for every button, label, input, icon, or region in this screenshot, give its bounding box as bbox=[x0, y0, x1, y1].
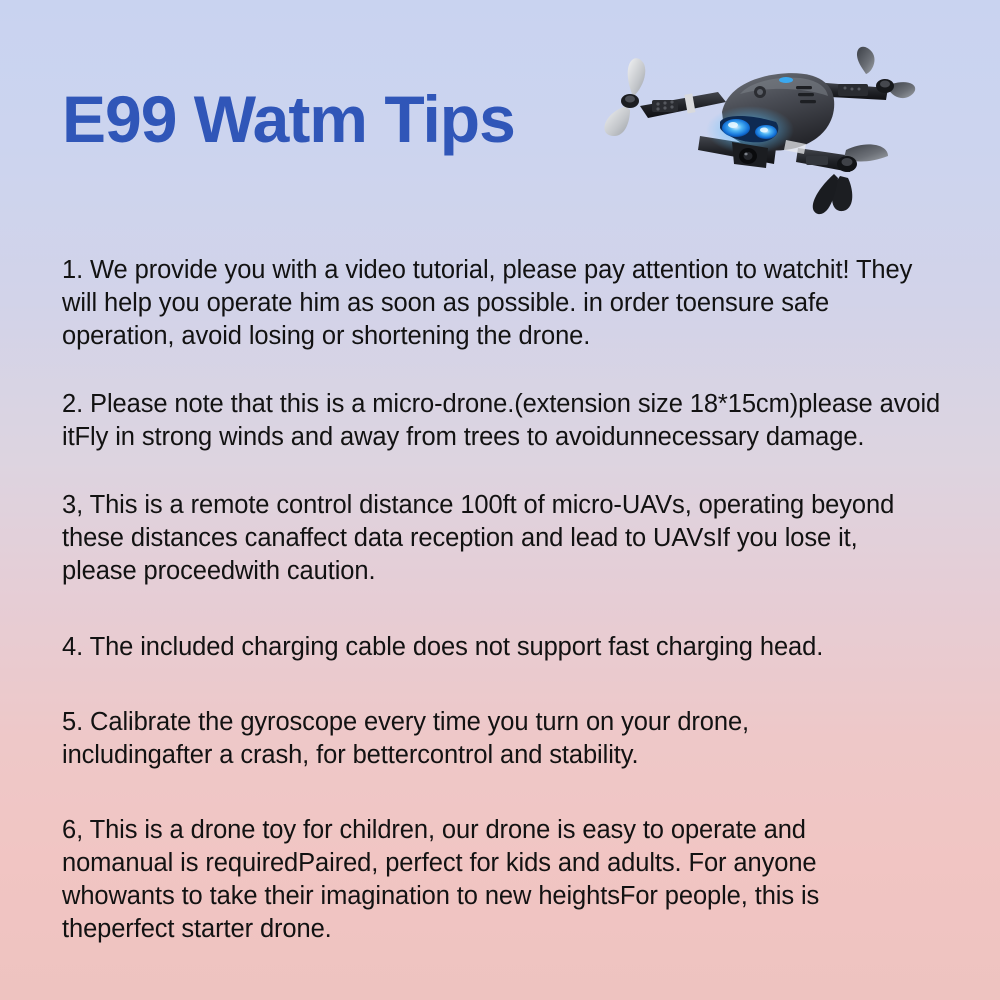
drone-front-right-rotor bbox=[796, 144, 888, 214]
tip-item-3: 3, This is a remote control distance 100… bbox=[62, 489, 907, 588]
quadcopter-drone-illustration bbox=[600, 44, 945, 234]
tip-item-4: 4. The included charging cable does not … bbox=[62, 631, 942, 664]
tip-item-5: 5. Calibrate the gyroscope every time yo… bbox=[62, 706, 862, 772]
header-section: E99 Watm Tips bbox=[0, 0, 1000, 230]
product-info-graphic: E99 Watm Tips bbox=[0, 0, 1000, 1000]
tip-item-1: 1. We provide you with a video tutorial,… bbox=[62, 254, 930, 353]
tip-item-2: 2. Please note that this is a micro-dron… bbox=[62, 388, 942, 454]
page-title: E99 Watm Tips bbox=[62, 86, 515, 152]
tip-item-6: 6, This is a drone toy for children, our… bbox=[62, 814, 907, 947]
tips-list: 1. We provide you with a video tutorial,… bbox=[62, 228, 944, 947]
